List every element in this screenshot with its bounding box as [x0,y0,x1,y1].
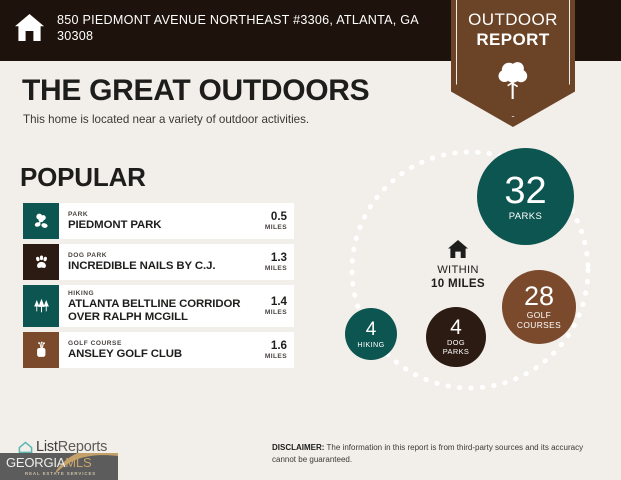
stat-circle-hiking[interactable]: 4 HIKING [345,308,397,360]
stat-label: PARKS [509,211,543,222]
list-item-body: HIKING ATLANTA BELTLINE CORRIDOR OVER RA… [59,285,294,327]
stat-value: 32 [504,172,546,210]
badge-title-line1: OUTDOOR [451,10,575,30]
home-icon [447,239,469,259]
distance-unit: MILES [265,264,287,273]
park-tree-icon [23,203,59,239]
list-item[interactable]: DOG PARK INCREDIBLE NAILS BY C.J. 1.3 MI… [23,244,294,280]
house-outline-icon [18,441,33,454]
list-item-distance: 1.6 MILES [265,340,287,361]
badge-title-line2: REPORT [451,30,575,50]
within-center-label: WITHIN 10 MILES [405,239,511,290]
popular-list: PARK PIEDMONT PARK 0.5 MILES [23,203,294,373]
distance-value: 1.3 [265,252,287,264]
page-footer: ListReports GEORGIAMLS REAL ESTATE SERVI… [0,425,621,480]
stat-circle-golf-courses[interactable]: 28 GOLF COURSES [502,270,576,344]
stat-value: 28 [524,283,554,310]
list-item-text: DOG PARK INCREDIBLE NAILS BY C.J. [68,251,215,273]
distance-unit: MILES [265,352,287,361]
property-address: 850 PIEDMONT AVENUE NORTHEAST #3306, ATL… [57,12,441,44]
list-item-body: GOLF COURSE ANSLEY GOLF CLUB 1.6 MILES [59,332,294,368]
list-item-text: HIKING ATLANTA BELTLINE CORRIDOR OVER RA… [68,289,259,323]
paw-print-icon [23,244,59,280]
list-item-body: PARK PIEDMONT PARK 0.5 MILES [59,203,294,239]
within-line2: 10 MILES [405,277,511,290]
stat-circle-parks[interactable]: 32 PARKS [477,148,574,245]
golf-bag-icon [23,332,59,368]
header-content: 850 PIEDMONT AVENUE NORTHEAST #3306, ATL… [14,12,441,44]
stat-label: HIKING [357,340,384,349]
list-item-name: PIEDMONT PARK [68,219,161,232]
popular-heading: POPULAR [20,162,146,193]
georgia-text: GEORGIA [6,455,65,470]
pine-trees-icon [23,285,59,327]
within-10-miles-chart: 32 PARKS 28 GOLF COURSES 4 DOG PARKS 4 H… [320,140,621,420]
stat-value: 4 [366,320,377,339]
badge-title: OUTDOOR REPORT [451,10,575,50]
list-item[interactable]: HIKING ATLANTA BELTLINE CORRIDOR OVER RA… [23,285,294,327]
georgia-mls-tagline: REAL ESTATE SERVICES [25,471,96,476]
list-item-distance: 1.3 MILES [265,252,287,273]
list-item-category: DOG PARK [68,251,215,260]
distance-value: 0.5 [265,211,287,223]
stat-label-line2: PARKS [443,348,470,357]
list-item-distance: 1.4 MILES [265,296,287,317]
distance-value: 1.6 [265,340,287,352]
disclaimer-label: DISCLAIMER: [272,443,324,452]
distance-value: 1.4 [265,296,287,308]
stat-value: 4 [450,317,462,338]
disclaimer: DISCLAIMER: The information in this repo… [272,442,590,465]
list-item-text: GOLF COURSE ANSLEY GOLF CLUB [68,339,182,361]
stat-circle-dog-parks[interactable]: 4 DOG PARKS [426,307,486,367]
list-item-body: DOG PARK INCREDIBLE NAILS BY C.J. 1.3 MI… [59,244,294,280]
distance-unit: MILES [265,223,287,232]
list-item-name: ATLANTA BELTLINE CORRIDOR OVER RALPH MCG… [68,298,259,323]
list-item[interactable]: GOLF COURSE ANSLEY GOLF CLUB 1.6 MILES [23,332,294,368]
list-item-text: PARK PIEDMONT PARK [68,210,161,232]
stat-label-line2: COURSES [517,321,561,331]
mls-text: MLS [65,455,91,470]
list-item-category: HIKING [68,289,259,298]
georgia-mls-logo: GEORGIAMLS REAL ESTATE SERVICES [0,453,118,480]
page-title: THE GREAT OUTDOORS [22,74,369,108]
tree-icon [496,58,530,100]
list-item-category: PARK [68,210,161,219]
list-item-name: ANSLEY GOLF CLUB [68,348,182,361]
page-subtitle: This home is located near a variety of o… [23,113,309,126]
list-item-name: INCREDIBLE NAILS BY C.J. [68,260,215,273]
list-item-distance: 0.5 MILES [265,211,287,232]
georgia-mls-wordmark: GEORGIAMLS [6,456,91,470]
outdoor-report-page: 850 PIEDMONT AVENUE NORTHEAST #3306, ATL… [0,0,621,480]
outdoor-report-badge: OUTDOOR REPORT [451,0,575,127]
distance-unit: MILES [265,308,287,317]
home-icon [14,13,45,42]
list-item-category: GOLF COURSE [68,339,182,348]
list-item[interactable]: PARK PIEDMONT PARK 0.5 MILES [23,203,294,239]
within-line1: WITHIN [405,264,511,277]
